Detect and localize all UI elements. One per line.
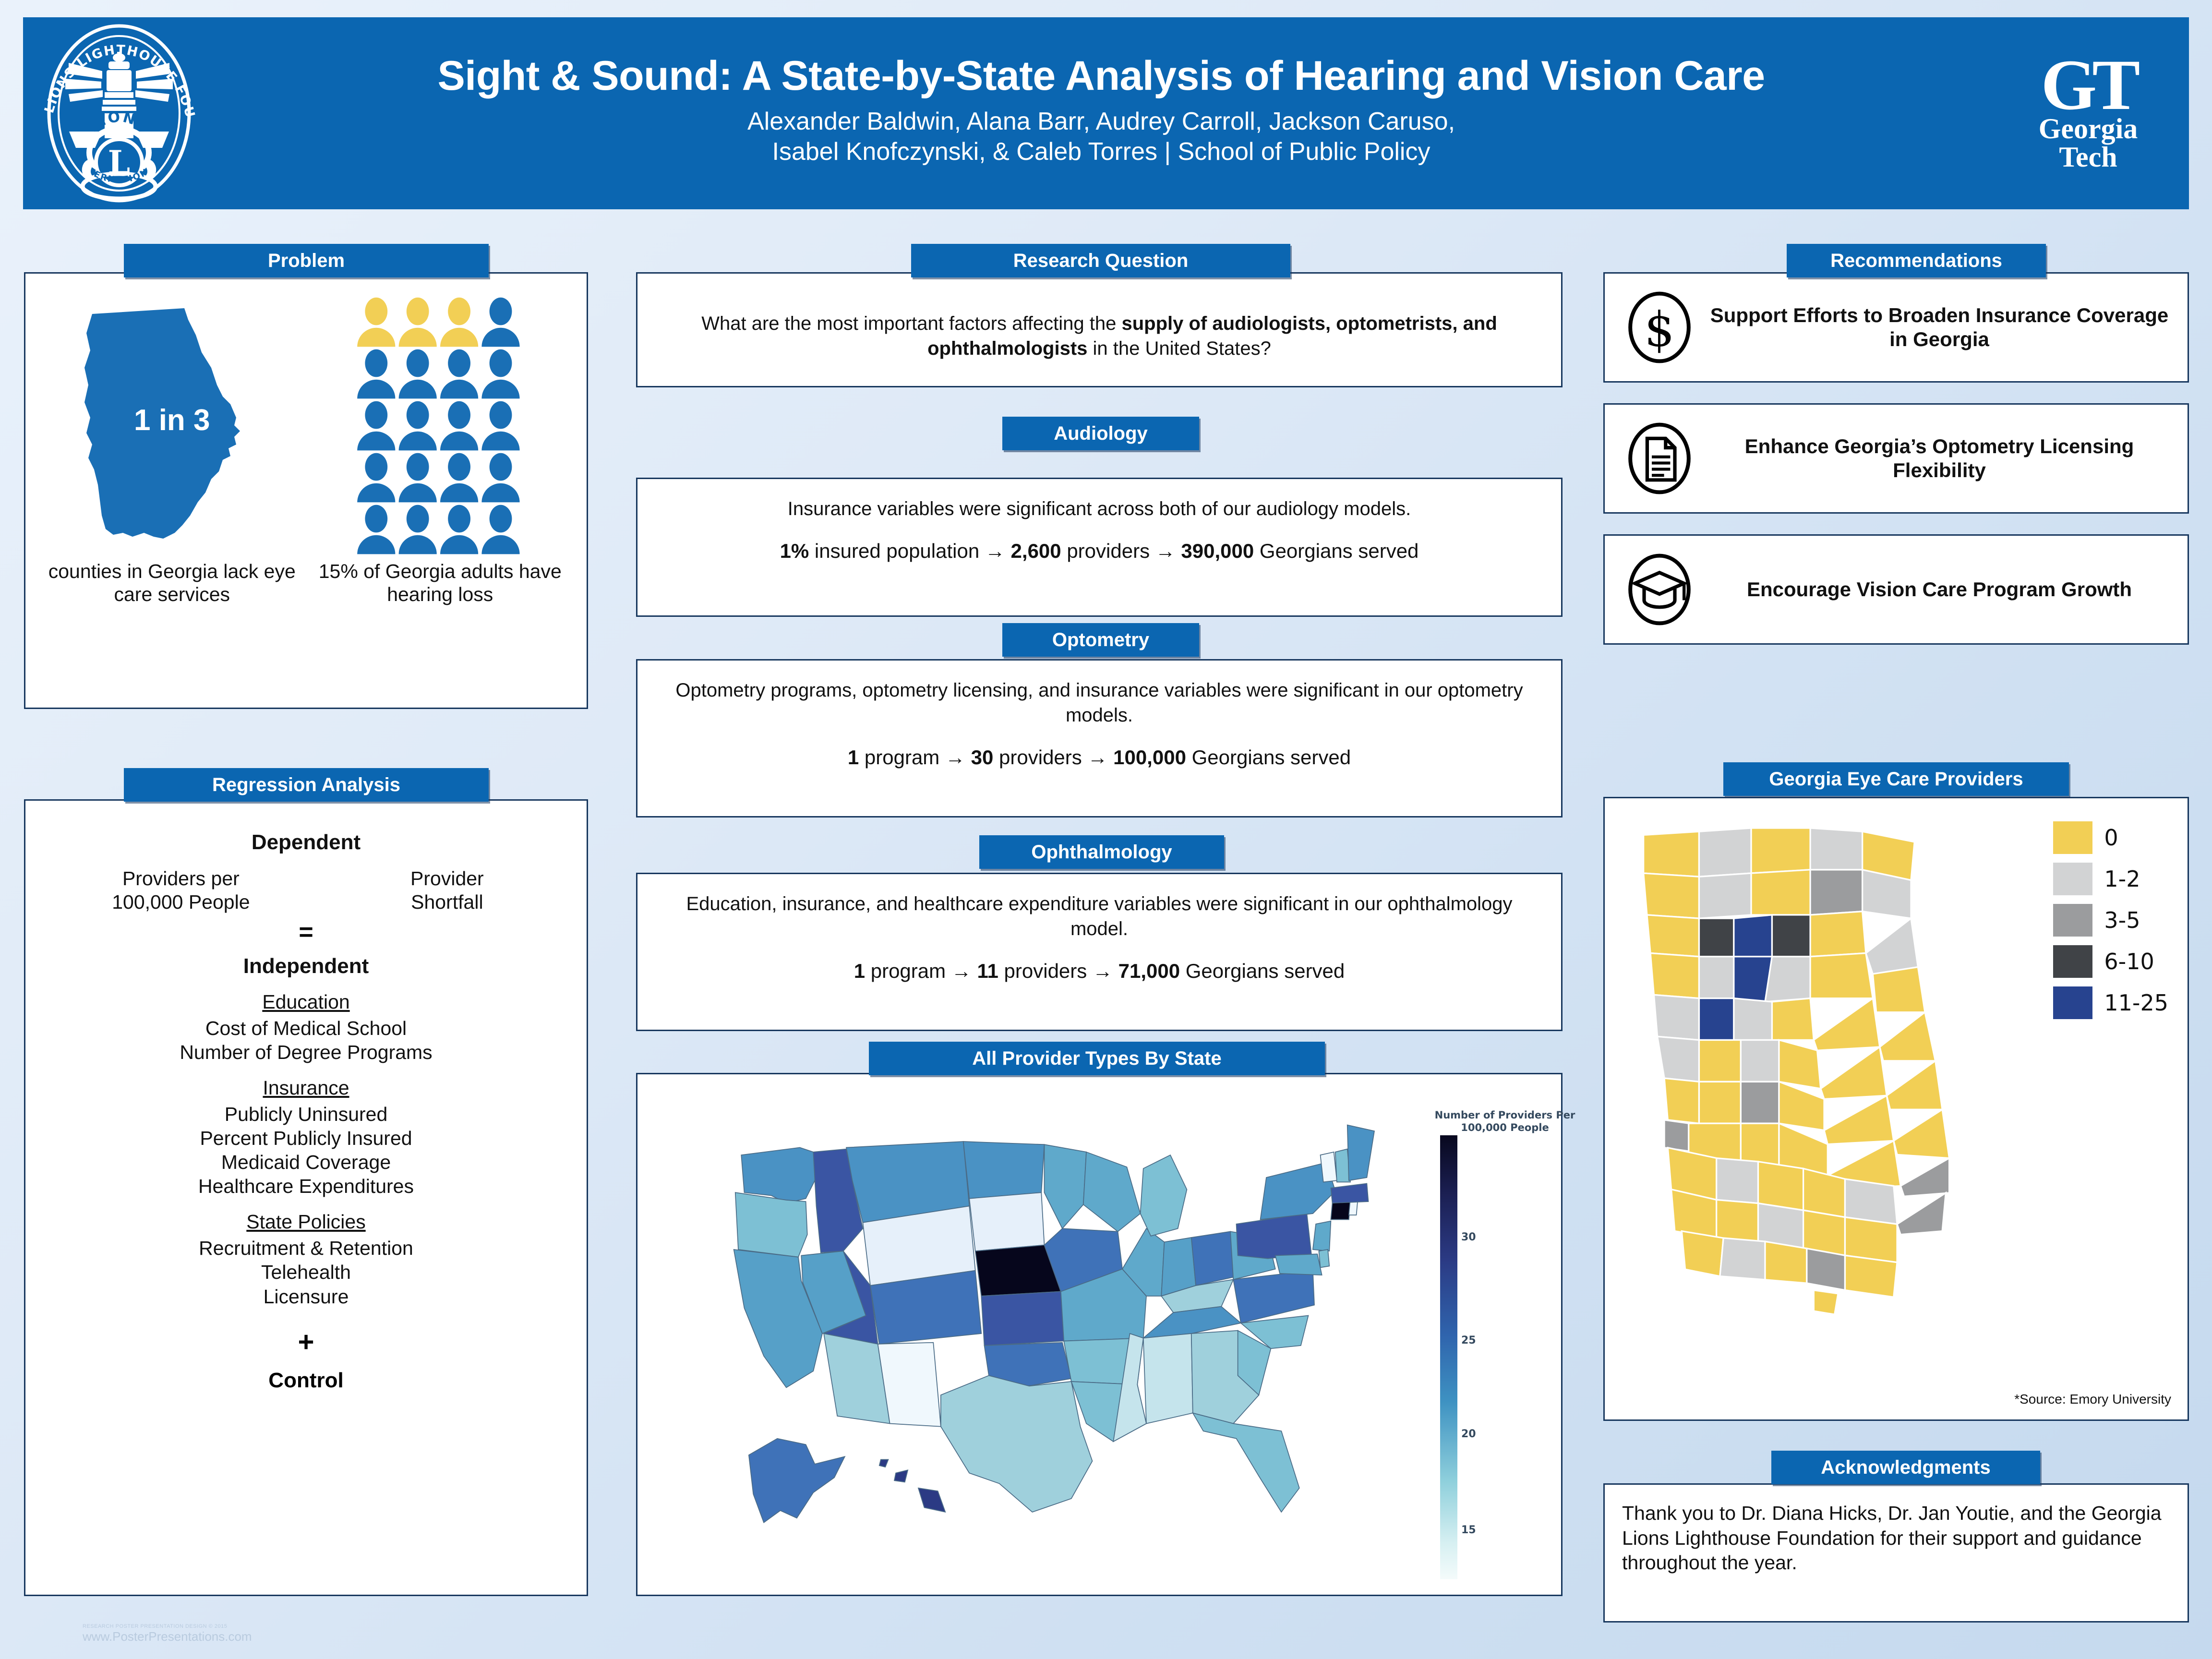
- watermark-line-1: RESEARCH POSTER PRESENTATION DESIGN © 20…: [83, 1623, 252, 1629]
- legend-label: 3-5: [2104, 907, 2140, 933]
- recommendation-text-2: Enhance Georgia’s Optometry Licensing Fl…: [1703, 434, 2176, 483]
- state-OR: [735, 1192, 807, 1257]
- audiology-stat-chain: 1% insured population → 2,600 providers …: [637, 540, 1561, 563]
- opt-arrow-1: →: [945, 746, 965, 769]
- state-TX: [941, 1376, 1093, 1512]
- opt-lbl-a: program: [859, 746, 945, 769]
- legend-row: 3-5: [2053, 904, 2168, 937]
- colorbar-gradient: [1440, 1135, 1457, 1579]
- aud-stat-b: 2,600: [1005, 540, 1061, 562]
- reg-item: Medicaid Coverage: [40, 1150, 572, 1174]
- author-line-1: Alexander Baldwin, Alana Barr, Audrey Ca…: [747, 107, 1455, 137]
- rq-part1: What are the most important factors affe…: [701, 313, 1121, 334]
- people-pictogram-icon: [354, 297, 527, 556]
- plus-symbol: +: [40, 1326, 572, 1358]
- legend-swatch: [2053, 945, 2092, 978]
- opt-lbl-c: Georgians served: [1186, 746, 1351, 769]
- state-HI: [879, 1460, 889, 1467]
- problem-caption-left: counties in Georgia lack eye care servic…: [38, 560, 306, 606]
- dollar-circle-icon: $: [1616, 284, 1703, 371]
- us-choropleth-map: [666, 1108, 1386, 1559]
- legend-swatch: [2053, 863, 2092, 895]
- georgia-county-choropleth: [1619, 817, 1984, 1322]
- state-FL: [1193, 1413, 1299, 1512]
- acknowledgments-panel: Thank you to Dr. Diana Hicks, Dr. Jan Yo…: [1603, 1483, 2189, 1623]
- aud-lbl-c: Georgians served: [1254, 540, 1419, 562]
- problem-banner: Problem: [124, 244, 489, 277]
- state-MA: [1331, 1184, 1368, 1203]
- state-ME: [1347, 1125, 1374, 1181]
- poster-template-watermark: RESEARCH POSTER PRESENTATION DESIGN © 20…: [83, 1623, 252, 1644]
- acknowledgments-text: Thank you to Dr. Diana Hicks, Dr. Jan Yo…: [1605, 1485, 2188, 1575]
- reg-item: Healthcare Expenditures: [40, 1174, 572, 1198]
- reg-item: Telehealth: [40, 1260, 572, 1284]
- legend-label: 11-25: [2104, 990, 2168, 1016]
- georgia-lions-lighthouse-logo: GEORGIA LIONS LIGHTHOUSE FOUNDATION: [23, 17, 215, 209]
- us-map-banner: All Provider Types By State: [869, 1042, 1325, 1075]
- problem-panel: 1 in 3 counties in Georgia lack eye care…: [24, 272, 588, 709]
- legend-row: 1-2: [2053, 863, 2168, 895]
- state-CT: [1331, 1202, 1350, 1220]
- state-HI: [918, 1488, 945, 1512]
- colorbar-title: Number of Providers Per 100,000 People: [1433, 1109, 1577, 1134]
- gt-wordmark-line2: Tech: [2059, 143, 2117, 171]
- opt-arrow-2: →: [1087, 746, 1107, 769]
- aud-arrow-1: →: [985, 540, 1005, 562]
- reg-item: Publicly Uninsured: [40, 1102, 572, 1126]
- research-question-panel: What are the most important factors affe…: [636, 272, 1563, 387]
- georgia-eye-care-map-panel: 0 1-2 3-5 6-10 11-25 *Source: Emory Univ…: [1603, 797, 2189, 1421]
- equals-symbol: =: [40, 918, 572, 947]
- reg-item: Recruitment & Retention: [40, 1236, 572, 1260]
- problem-stat-counties: 1 in 3 counties in Georgia lack eye care…: [38, 297, 306, 697]
- legend-row: 6-10: [2053, 945, 2168, 978]
- aud-arrow-2: →: [1155, 540, 1176, 562]
- state-HI: [894, 1470, 908, 1482]
- georgia-tech-logo: GT Georgia Tech: [1987, 17, 2189, 209]
- oph-lbl-b: providers: [998, 960, 1093, 982]
- state-VT: [1321, 1152, 1337, 1182]
- oph-arrow-2: →: [1093, 960, 1113, 982]
- ophthalmology-banner: Ophthalmology: [979, 835, 1224, 869]
- dependent-heading: Dependent: [40, 830, 572, 854]
- audiology-banner: Audiology: [1002, 417, 1199, 450]
- research-question-banner: Research Question: [911, 244, 1290, 277]
- oph-lbl-a: program: [865, 960, 951, 982]
- state-OH: [1191, 1232, 1237, 1286]
- oph-stat-a: 1: [854, 960, 865, 982]
- colorbar-tick-20: 20: [1461, 1428, 1476, 1440]
- legend-label: 6-10: [2104, 949, 2154, 974]
- optometry-stat-chain: 1 program → 30 providers → 100,000 Georg…: [637, 746, 1561, 769]
- legend-swatch: [2053, 904, 2092, 937]
- us-provider-map-panel: [636, 1073, 1563, 1596]
- map-source-note: *Source: Emory University: [2014, 1392, 2171, 1407]
- aud-lbl-a: insured population: [809, 540, 985, 562]
- dependent-var-1: Providers per100,000 People: [59, 867, 303, 914]
- recommendation-card-2: Enhance Georgia’s Optometry Licensing Fl…: [1603, 403, 2189, 514]
- acknowledgments-banner: Acknowledgments: [1771, 1451, 2040, 1484]
- oph-arrow-1: →: [951, 960, 972, 982]
- watermark-line-2: www.PosterPresentations.com: [83, 1629, 252, 1644]
- dependent-var-2: ProviderShortfall: [341, 867, 554, 914]
- opt-stat-c: 100,000: [1107, 746, 1186, 769]
- state-MI: [1141, 1155, 1187, 1236]
- state-ND: [963, 1142, 1045, 1199]
- control-label: Control: [40, 1369, 572, 1393]
- group-label-insurance: Insurance: [40, 1077, 572, 1099]
- oph-lbl-c: Georgians served: [1180, 960, 1345, 982]
- legend-swatch: [2053, 986, 2092, 1019]
- rq-part2: in the United States?: [1087, 338, 1271, 359]
- legend-swatch: [2053, 821, 2092, 854]
- ophthalmology-panel: Education, insurance, and healthcare exp…: [636, 873, 1563, 1031]
- recommendation-text-3: Encourage Vision Care Program Growth: [1703, 577, 2176, 601]
- aud-stat-c: 390,000: [1176, 540, 1254, 562]
- group-label-education: Education: [40, 991, 572, 1013]
- state-MD: [1275, 1254, 1322, 1275]
- optometry-finding: Optometry programs, optometry licensing,…: [637, 661, 1561, 728]
- gt-monogram: GT: [2041, 56, 2136, 115]
- author-line-2: Isabel Knofczynski, & Caleb Torres | Sch…: [772, 137, 1431, 167]
- opt-stat-a: 1: [848, 746, 859, 769]
- colorbar-tick-30: 30: [1461, 1231, 1476, 1243]
- state-KS: [981, 1292, 1064, 1346]
- problem-headline-stat: 1 in 3: [71, 403, 273, 437]
- document-circle-icon: [1616, 415, 1703, 502]
- opt-stat-b: 30: [965, 746, 993, 769]
- colorbar-tick-15: 15: [1461, 1524, 1476, 1536]
- regression-analysis-panel: Dependent Providers per100,000 People Pr…: [24, 799, 588, 1596]
- state-SD: [969, 1192, 1044, 1251]
- reg-item: Percent Publicly Insured: [40, 1126, 572, 1150]
- state-VA: [1233, 1271, 1314, 1323]
- legend-label: 1-2: [2104, 866, 2140, 892]
- georgia-map-banner: Georgia Eye Care Providers: [1723, 762, 2069, 796]
- reg-item: Number of Degree Programs: [40, 1040, 572, 1064]
- recommendation-card-1: $ Support Efforts to Broaden Insurance C…: [1603, 272, 2189, 383]
- colorbar-tick-25: 25: [1461, 1334, 1476, 1346]
- aud-stat-a: 1%: [780, 540, 809, 562]
- problem-caption-right: 15% of Georgia adults have hearing loss: [306, 560, 575, 606]
- ophthalmology-finding: Education, insurance, and healthcare exp…: [637, 874, 1561, 941]
- svg-text:$: $: [1644, 302, 1674, 357]
- state-NJ: [1313, 1221, 1331, 1251]
- legend-label: 0: [2104, 825, 2118, 851]
- gt-wordmark-line1: Georgia: [2039, 115, 2138, 143]
- state-DE: [1319, 1250, 1329, 1268]
- audiology-finding: Insurance variables were significant acr…: [637, 479, 1561, 521]
- state-MN: [1045, 1144, 1087, 1228]
- oph-stat-c: 71,000: [1113, 960, 1180, 982]
- independent-heading: Independent: [40, 954, 572, 978]
- optometry-banner: Optometry: [1002, 623, 1199, 657]
- poster-header: GEORGIA LIONS LIGHTHOUSE FOUNDATION: [23, 17, 2189, 209]
- opt-lbl-b: providers: [993, 746, 1087, 769]
- reg-item: Licensure: [40, 1285, 572, 1309]
- recommendations-banner: Recommendations: [1787, 244, 2046, 277]
- georgia-silhouette-icon: 1 in 3: [71, 297, 273, 556]
- ophthalmology-stat-chain: 1 program → 11 providers → 71,000 Georgi…: [637, 960, 1561, 983]
- legend-row: 0: [2053, 821, 2168, 854]
- georgia-map-legend: 0 1-2 3-5 6-10 11-25: [2053, 821, 2168, 1028]
- graduation-cap-circle-icon: [1616, 546, 1703, 633]
- optometry-panel: Optometry programs, optometry licensing,…: [636, 659, 1563, 817]
- recommendation-text-1: Support Efforts to Broaden Insurance Cov…: [1703, 303, 2176, 352]
- state-WI: [1083, 1152, 1141, 1232]
- oph-stat-b: 11: [972, 960, 998, 982]
- audiology-panel: Insurance variables were significant acr…: [636, 478, 1563, 617]
- legend-row: 11-25: [2053, 986, 2168, 1019]
- research-question-text: What are the most important factors affe…: [637, 274, 1561, 361]
- recommendation-card-3: Encourage Vision Care Program Growth: [1603, 534, 2189, 645]
- problem-stat-hearing: 15% of Georgia adults have hearing loss: [306, 297, 575, 697]
- state-PA: [1237, 1214, 1311, 1259]
- header-text-block: Sight & Sound: A State-by-State Analysis…: [215, 54, 1987, 172]
- page-title: Sight & Sound: A State-by-State Analysis…: [437, 54, 1765, 97]
- reg-item: Cost of Medical School: [40, 1016, 572, 1040]
- state-AK: [749, 1439, 845, 1523]
- state-AL: [1143, 1334, 1193, 1424]
- aud-lbl-b: providers: [1061, 540, 1155, 562]
- regression-analysis-banner: Regression Analysis: [124, 768, 489, 802]
- group-label-state-policies: State Policies: [40, 1211, 572, 1233]
